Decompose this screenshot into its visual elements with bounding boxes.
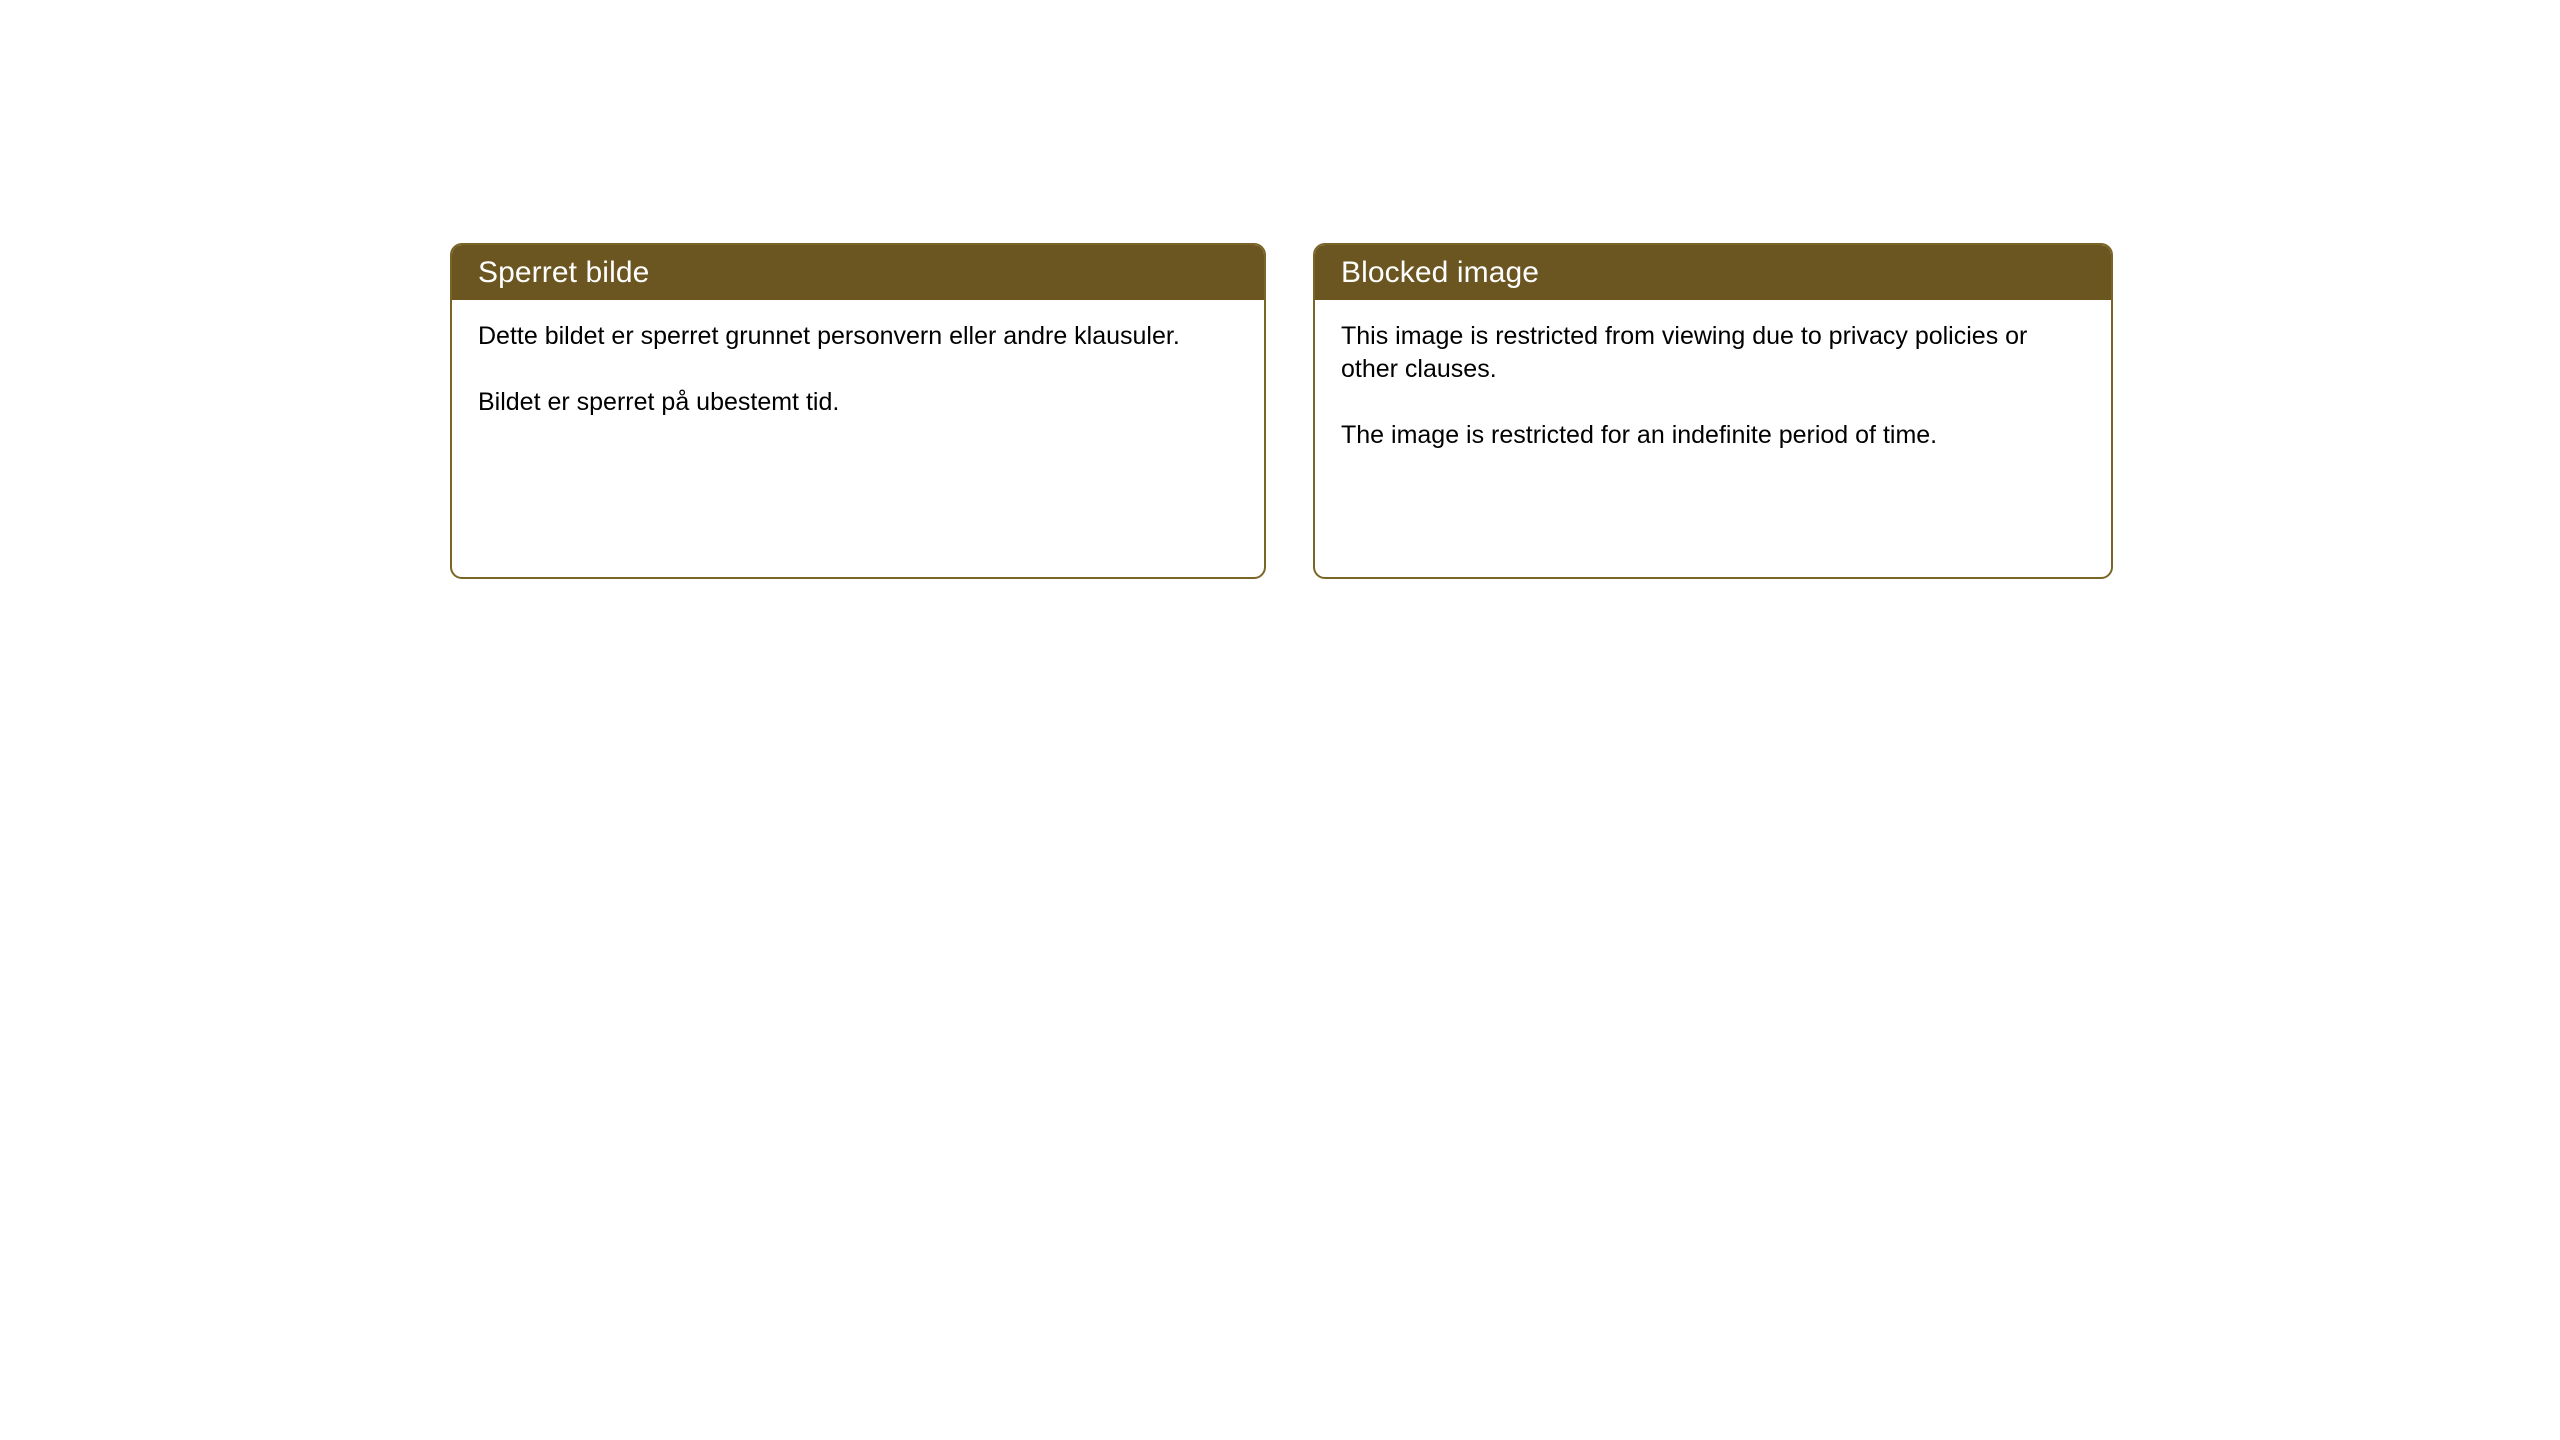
blocked-image-card-english: Blocked image This image is restricted f… xyxy=(1313,243,2113,579)
card-body-english: This image is restricted from viewing du… xyxy=(1315,300,2111,452)
card-title-norwegian: Sperret bilde xyxy=(478,258,649,288)
card-paragraph-secondary-norwegian: Bildet er sperret på ubestemt tid. xyxy=(478,386,1238,419)
card-paragraph-primary-norwegian: Dette bildet er sperret grunnet personve… xyxy=(478,320,1238,353)
blocked-image-notices: Sperret bilde Dette bildet er sperret gr… xyxy=(0,0,2560,1440)
paragraph-spacer xyxy=(1341,386,2085,419)
paragraph-spacer xyxy=(478,353,1238,386)
card-header-english: Blocked image xyxy=(1315,245,2111,300)
card-paragraph-primary-english: This image is restricted from viewing du… xyxy=(1341,320,2085,386)
card-paragraph-secondary-english: The image is restricted for an indefinit… xyxy=(1341,419,2085,452)
blocked-image-card-norwegian: Sperret bilde Dette bildet er sperret gr… xyxy=(450,243,1266,579)
card-header-norwegian: Sperret bilde xyxy=(452,245,1264,300)
card-title-english: Blocked image xyxy=(1341,258,1539,288)
card-body-norwegian: Dette bildet er sperret grunnet personve… xyxy=(452,300,1264,419)
